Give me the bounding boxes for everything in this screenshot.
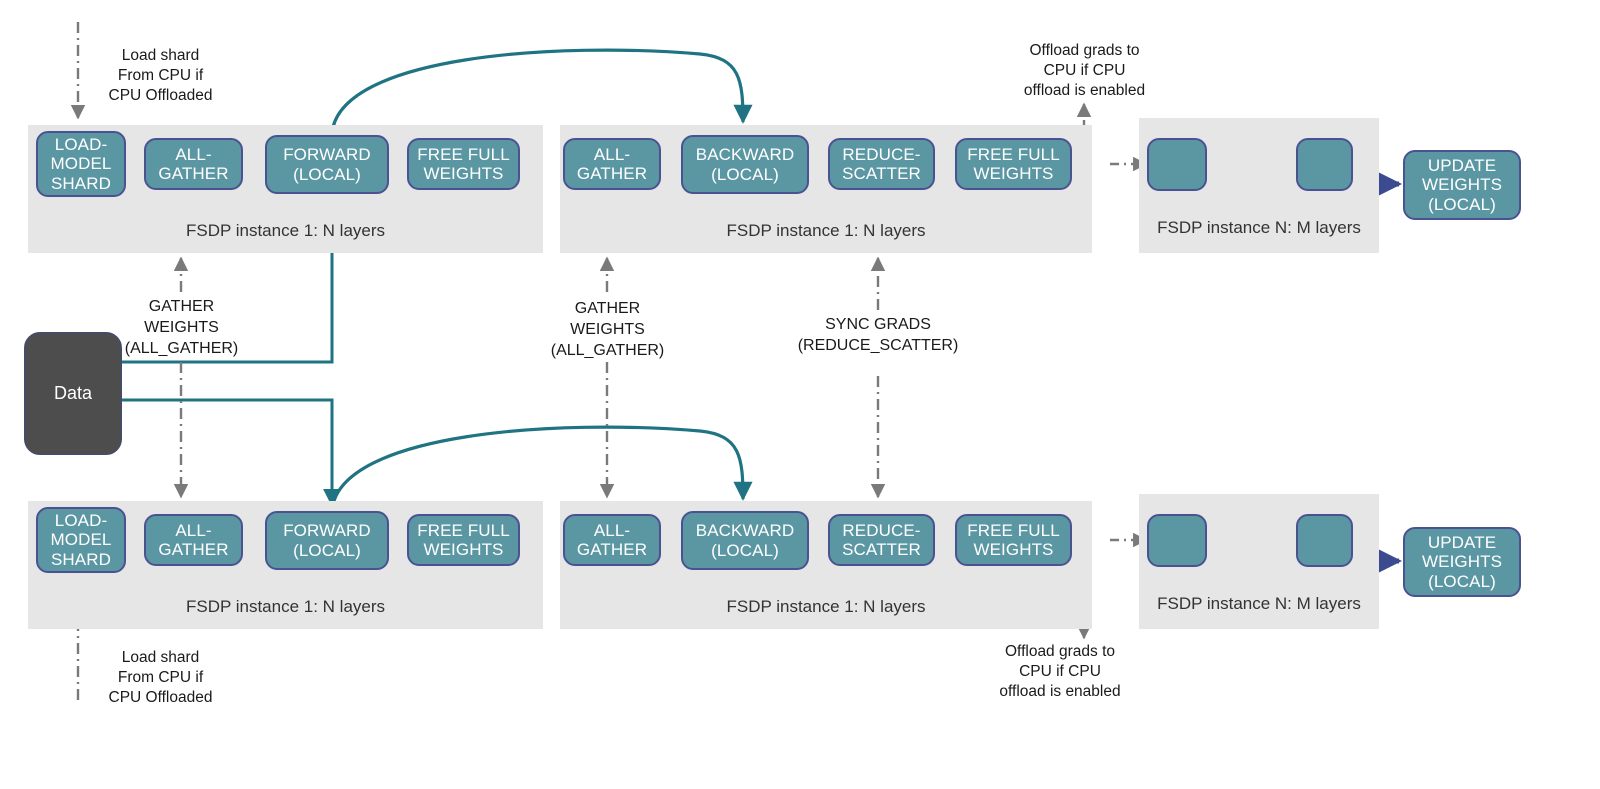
bottom-reduce-scatter-node[interactable]: REDUCE- SCATTER [828,514,935,566]
diagram-canvas: FSDP instance 1: N layers FSDP instance … [0,0,1600,789]
mid-sync-grads-label: SYNC GRADS (REDUCE_SCATTER) [788,315,968,357]
bottom-load-shard-note: Load shard From CPU if CPU Offloaded [88,648,233,707]
bottom-forward-local-node[interactable]: FORWARD (LOCAL) [265,511,389,570]
top-backward-local-node[interactable]: BACKWARD (LOCAL) [681,135,809,194]
top-update-weights-node[interactable]: UPDATE WEIGHTS (LOCAL) [1403,150,1521,220]
top-reduce-scatter-node[interactable]: REDUCE- SCATTER [828,138,935,190]
bottom-bwd-free-full-weights-node[interactable]: FREE FULL WEIGHTS [955,514,1072,566]
top-backward-panel-caption: FSDP instance 1: N layers [560,221,1092,241]
top-forward-to-backward-curve [332,50,743,133]
top-forward-local-node[interactable]: FORWARD (LOCAL) [265,135,389,194]
bottom-instance-n-panel-caption: FSDP instance N: M layers [1139,594,1379,614]
top-instance-n-panel-caption: FSDP instance N: M layers [1139,218,1379,238]
data-to-bottom-forward-line [122,400,332,505]
bottom-all-gather-node[interactable]: ALL- GATHER [144,514,243,566]
bottom-instance-n-last-node[interactable] [1296,514,1353,567]
bottom-free-full-weights-node[interactable]: FREE FULL WEIGHTS [407,514,520,566]
bottom-bwd-all-gather-node[interactable]: ALL- GATHER [563,514,661,566]
mid-gather-weights-right-label: GATHER WEIGHTS (ALL_GATHER) [535,299,680,361]
top-forward-panel-caption: FSDP instance 1: N layers [28,221,543,241]
mid-gather-weights-left-label: GATHER WEIGHTS (ALL_GATHER) [109,297,254,359]
bottom-backward-panel-caption: FSDP instance 1: N layers [560,597,1092,617]
top-offload-grads-note: Offload grads to CPU if CPU offload is e… [1002,41,1167,100]
bottom-instance-n-first-node[interactable] [1147,514,1207,567]
data-source-node[interactable]: Data [24,332,122,455]
top-instance-n-last-node[interactable] [1296,138,1353,191]
top-load-model-shard-node[interactable]: LOAD- MODEL SHARD [36,131,126,197]
top-bwd-free-full-weights-node[interactable]: FREE FULL WEIGHTS [955,138,1072,190]
top-all-gather-node[interactable]: ALL- GATHER [144,138,243,190]
bottom-load-model-shard-node[interactable]: LOAD- MODEL SHARD [36,507,126,573]
bottom-backward-local-node[interactable]: BACKWARD (LOCAL) [681,511,809,570]
bottom-forward-to-backward-curve [332,427,743,510]
top-bwd-all-gather-node[interactable]: ALL- GATHER [563,138,661,190]
bottom-offload-grads-note: Offload grads to CPU if CPU offload is e… [975,642,1145,701]
top-load-shard-note: Load shard From CPU if CPU Offloaded [88,46,233,105]
bottom-update-weights-node[interactable]: UPDATE WEIGHTS (LOCAL) [1403,527,1521,597]
bottom-forward-panel-caption: FSDP instance 1: N layers [28,597,543,617]
top-free-full-weights-node[interactable]: FREE FULL WEIGHTS [407,138,520,190]
top-instance-n-first-node[interactable] [1147,138,1207,191]
